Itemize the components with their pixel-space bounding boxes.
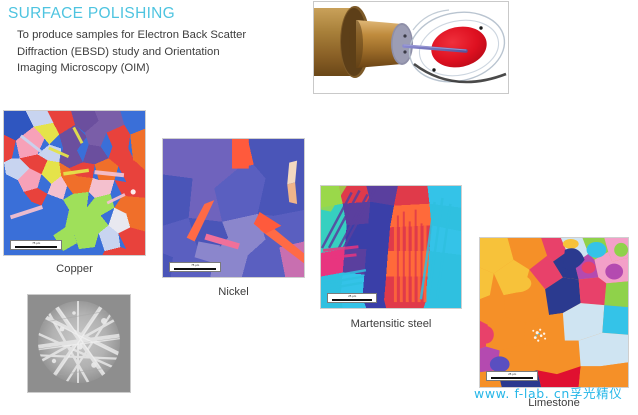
steel-scalebar: 25 µm <box>327 293 377 303</box>
caption-copper: Copper <box>3 263 146 275</box>
limestone-scalebar-label: 25 µm <box>508 373 516 376</box>
caption-nickel: Nickel <box>162 286 305 298</box>
limestone-micrograph-frame: 25 µm <box>479 237 629 388</box>
copper-scalebar-bar <box>15 246 57 249</box>
steel-scalebar-label: 25 µm <box>348 295 356 298</box>
nickel-scalebar: 75 µm <box>169 262 221 272</box>
nickel-scalebar-label: 75 µm <box>191 264 199 267</box>
copper-ebsd-map <box>4 111 145 255</box>
holder-diagram-svg <box>314 2 508 93</box>
body-line-1: To produce samples for Electron Back Sca… <box>17 27 308 44</box>
slide-body-text: To produce samples for Electron Back Sca… <box>8 27 308 77</box>
figure-nickel: 75 µm Nickel <box>162 138 305 304</box>
martensitic-steel-ebsd-map <box>321 186 461 308</box>
nickel-scalebar-bar <box>174 268 216 271</box>
sample-puck <box>349 20 413 68</box>
nickel-micrograph-frame: 75 µm <box>162 138 305 278</box>
body-line-2: Diffraction (EBSD) study and Orientation <box>17 44 308 61</box>
steel-micrograph-frame: 25 µm <box>320 185 462 309</box>
limestone-scalebar: 25 µm <box>486 371 538 381</box>
steel-scalebar-bar <box>332 299 372 302</box>
copper-scalebar: 75 µm <box>10 240 62 250</box>
body-line-3: Imaging Microscopy (OIM) <box>17 60 308 77</box>
figure-martensitic-steel: 25 µm Martensitic steel <box>320 185 462 335</box>
ebsd-sample-holder-diagram <box>313 1 509 94</box>
figure-copper: 75 µm Copper <box>3 110 146 280</box>
caption-martensitic-steel: Martensitic steel <box>320 318 462 330</box>
page-title: SURFACE POLISHING <box>8 4 308 24</box>
limestone-scalebar-bar <box>491 377 533 380</box>
kikuchi-diffraction-pattern <box>27 294 131 393</box>
copper-micrograph-frame: 75 µm <box>3 110 146 256</box>
nickel-ebsd-map <box>163 139 304 277</box>
slide-header: SURFACE POLISHING To produce samples for… <box>8 4 308 77</box>
copper-scalebar-label: 75 µm <box>32 242 40 245</box>
kikuchi-pattern-svg <box>28 295 130 392</box>
watermark: www. f-lab. cn孚光精仪 <box>474 383 622 402</box>
limestone-ebsd-map <box>480 238 628 387</box>
